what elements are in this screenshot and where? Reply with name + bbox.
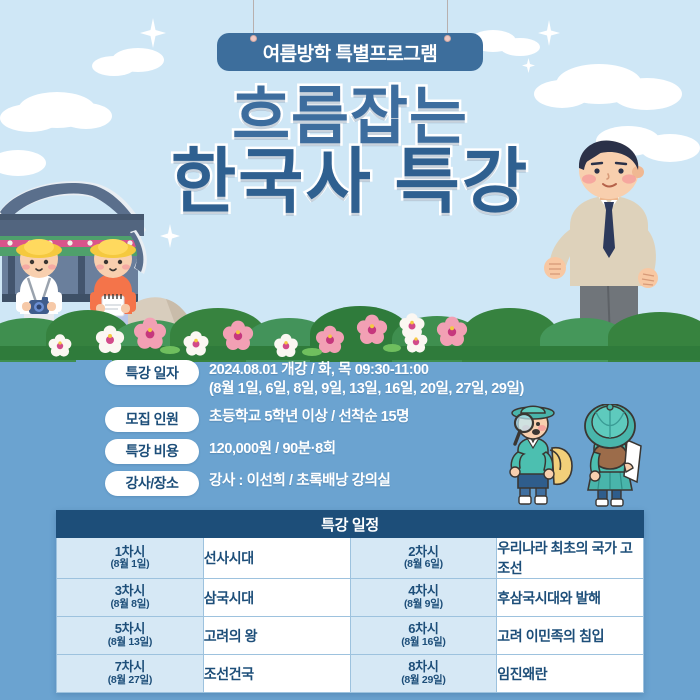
child-seen-from-behind bbox=[585, 404, 641, 506]
sparkle-star-1 bbox=[140, 18, 166, 48]
cloud-5b bbox=[500, 38, 540, 56]
sparkle-star-3 bbox=[538, 20, 560, 46]
sparkle-star-5 bbox=[160, 224, 180, 248]
table-row: 7차시 (8월 27일) 조선건국 8차시 (8월 29일) 임진왜란 bbox=[57, 655, 644, 693]
flower-white bbox=[96, 326, 124, 354]
session-cell: 5차시 (8월 13일) bbox=[57, 617, 204, 655]
sparkle-star-2 bbox=[122, 54, 137, 72]
topic-cell: 임진왜란 bbox=[497, 655, 644, 693]
topic-cell: 삼국시대 bbox=[203, 579, 350, 617]
table-row: 5차시 (8월 13일) 고려의 왕 6차시 (8월 16일) 고려 이민족의 … bbox=[57, 617, 644, 655]
session-number: 3차시 bbox=[57, 584, 203, 599]
flower-white bbox=[274, 334, 298, 357]
session-number: 8차시 bbox=[351, 660, 497, 675]
session-date: (8월 13일) bbox=[57, 637, 203, 649]
explorer-kids-illustration bbox=[500, 404, 700, 514]
topic-cell: 고려의 왕 bbox=[203, 617, 350, 655]
topic-cell: 조선건국 bbox=[203, 655, 350, 693]
topic-cell: 선사시대 bbox=[203, 538, 350, 579]
info-value-instructor: 강사 : 이선희 / 초록배낭 강의실 bbox=[209, 471, 390, 491]
session-number: 7차시 bbox=[57, 660, 203, 675]
session-number: 4차시 bbox=[351, 584, 497, 599]
schedule-table-wrapper: 특강 일정 1차시 (8월 1일) 선사시대 2차시 (8월 6일) 우리나라 … bbox=[56, 510, 644, 693]
session-cell: 7차시 (8월 27일) bbox=[57, 655, 204, 693]
info-row-date: 특강 일자 2024.08.01 개강 / 화, 목 09:30-11:00 (… bbox=[105, 360, 575, 400]
topic-cell: 우리나라 최초의 국가 고조선 bbox=[497, 538, 644, 579]
info-value-date: 2024.08.01 개강 / 화, 목 09:30-11:00 (8월 1일,… bbox=[209, 360, 524, 400]
child-with-magnifying-glass bbox=[510, 406, 572, 504]
session-date: (8월 29일) bbox=[351, 675, 497, 687]
info-label-date: 특강 일자 bbox=[105, 360, 199, 385]
flower-white bbox=[184, 331, 209, 355]
session-number: 6차시 bbox=[351, 622, 497, 637]
flower-white bbox=[49, 334, 72, 356]
poster-root: 여름방학 특별프로그램 흐름잡는 한국사 특강 bbox=[0, 0, 700, 700]
info-value-cost: 120,000원 / 90분·8회 bbox=[209, 439, 336, 459]
session-number: 5차시 bbox=[57, 622, 203, 637]
session-date: (8월 9일) bbox=[351, 599, 497, 611]
info-value-date-line1: 2024.08.01 개강 / 화, 목 09:30-11:00 bbox=[209, 362, 429, 378]
flower-row bbox=[0, 300, 700, 360]
session-date: (8월 6일) bbox=[351, 559, 497, 571]
session-date: (8월 27일) bbox=[57, 675, 203, 687]
session-date: (8월 1일) bbox=[57, 559, 203, 571]
session-cell: 6차시 (8월 16일) bbox=[350, 617, 497, 655]
info-value-date-line2: (8월 1일, 6일, 8일, 9일, 13일, 16일, 20일, 27일, … bbox=[209, 380, 524, 399]
table-row: 3차시 (8월 8일) 삼국시대 4차시 (8월 9일) 후삼국시대와 발해 bbox=[57, 579, 644, 617]
topic-cell: 고려 이민족의 침입 bbox=[497, 617, 644, 655]
session-cell: 1차시 (8월 1일) bbox=[57, 538, 204, 579]
banner-pin-left bbox=[250, 35, 257, 42]
sparkle-star-4 bbox=[522, 58, 535, 73]
info-label-cost: 특강 비용 bbox=[105, 439, 199, 464]
session-date: (8월 8일) bbox=[57, 599, 203, 611]
session-cell: 3차시 (8월 8일) bbox=[57, 579, 204, 617]
cloud-2c bbox=[534, 80, 590, 108]
session-cell: 4차시 (8월 9일) bbox=[350, 579, 497, 617]
info-value-enrollment: 초등학교 5학년 이상 / 선착순 15명 bbox=[209, 407, 409, 427]
flower-pink bbox=[437, 317, 467, 346]
schedule-table: 특강 일정 1차시 (8월 1일) 선사시대 2차시 (8월 6일) 우리나라 … bbox=[56, 510, 644, 693]
topic-cell: 후삼국시대와 발해 bbox=[497, 579, 644, 617]
schedule-table-title: 특강 일정 bbox=[57, 511, 644, 538]
banner-pin-right bbox=[444, 35, 451, 42]
cloud-1b bbox=[0, 104, 60, 132]
flower-pink bbox=[357, 315, 387, 344]
session-date: (8월 16일) bbox=[351, 637, 497, 649]
session-cell: 2차시 (8월 6일) bbox=[350, 538, 497, 579]
cloud-2b bbox=[612, 78, 682, 110]
flower-pink bbox=[316, 326, 344, 353]
flower-pink bbox=[134, 318, 166, 349]
info-label-enrollment: 모집 인원 bbox=[105, 407, 199, 432]
cloud-1c bbox=[60, 103, 112, 129]
banner-label: 여름방학 특별프로그램 bbox=[263, 39, 438, 66]
info-label-instructor: 강사/장소 bbox=[105, 471, 199, 496]
flower-pink bbox=[223, 321, 253, 350]
session-cell: 8차시 (8월 29일) bbox=[350, 655, 497, 693]
table-row: 1차시 (8월 1일) 선사시대 2차시 (8월 6일) 우리나라 최초의 국가… bbox=[57, 538, 644, 579]
